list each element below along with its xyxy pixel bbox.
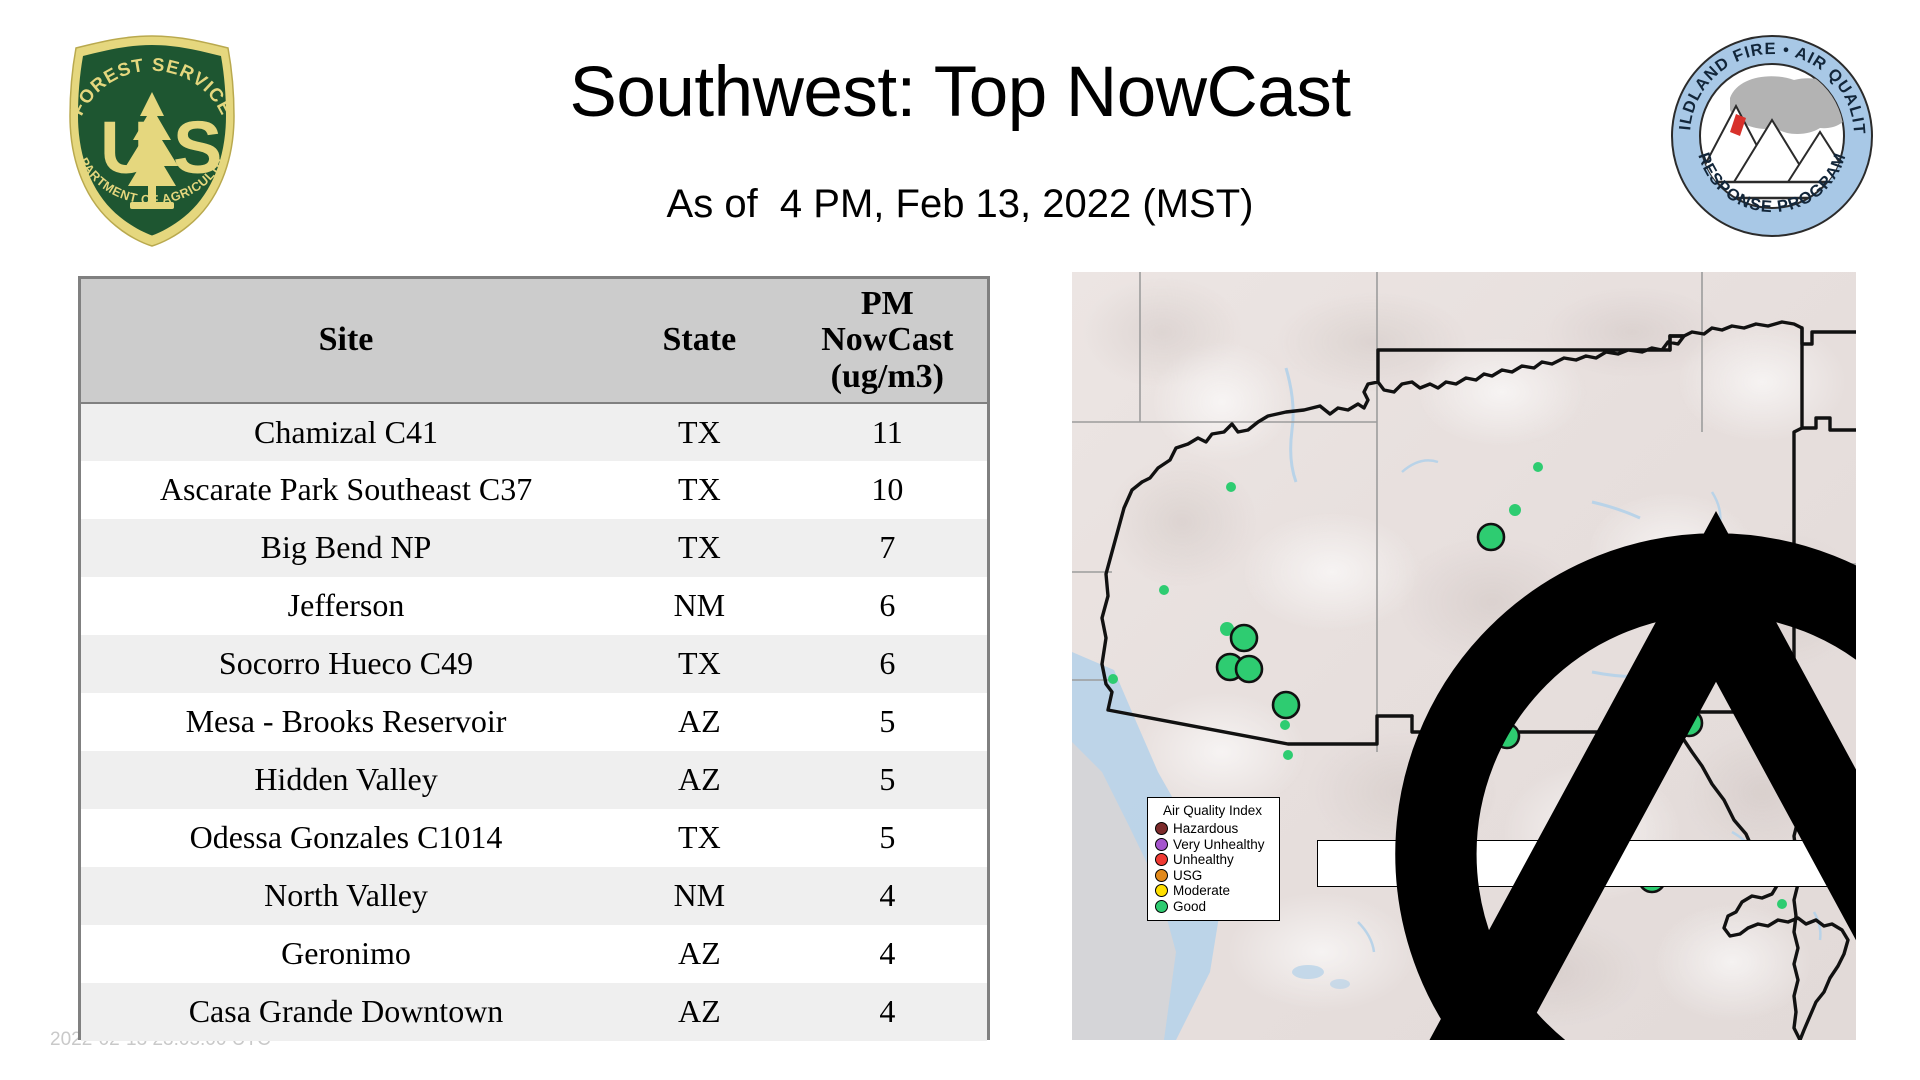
aqi-swatch-icon <box>1155 822 1168 835</box>
pm-nowcast-line-3: (ug/m3) <box>831 358 944 395</box>
table-row: Mesa - Brooks ReservoirAZ5 <box>81 693 987 751</box>
state-cell: TX <box>611 809 788 867</box>
table-body: Chamizal C41TX11Ascarate Park Southeast … <box>81 403 987 1041</box>
table-row: Ascarate Park Southeast C37TX10 <box>81 461 987 519</box>
monitor-type-legend: temporary permanent <box>1317 840 1856 887</box>
pm-nowcast-cell: 5 <box>788 693 987 751</box>
pm-nowcast-cell: 6 <box>788 635 987 693</box>
table-row: Socorro Hueco C49TX6 <box>81 635 987 693</box>
wildland-fire-air-quality-logo: WILDLAND FIRE • AIR QUALITY RESPONSE PRO… <box>1668 32 1876 240</box>
site-cell: Mesa - Brooks Reservoir <box>81 693 611 751</box>
site-cell: Jefferson <box>81 577 611 635</box>
pm-nowcast-cell: 6 <box>788 577 987 635</box>
site-cell: Casa Grande Downtown <box>81 983 611 1041</box>
table-row: Hidden ValleyAZ5 <box>81 751 987 809</box>
site-cell: Chamizal C41 <box>81 403 611 461</box>
table-header-row: Site State PM NowCast (ug/m3) <box>81 279 987 403</box>
site-cell: Hidden Valley <box>81 751 611 809</box>
aqi-legend-row: Unhealthy <box>1155 852 1270 868</box>
aqi-legend-label: Very Unhealthy <box>1173 838 1265 852</box>
monitor-marker[interactable] <box>1231 625 1257 651</box>
usfs-letter-s: S <box>173 106 222 189</box>
state-cell: AZ <box>611 751 788 809</box>
page-title: Southwest: Top NowCast <box>300 56 1620 131</box>
aqi-swatch-icon <box>1155 900 1168 913</box>
legend-row-permanent: permanent <box>1324 863 1856 881</box>
table-row: Big Bend NPTX7 <box>81 519 987 577</box>
aqi-legend-row: USG <box>1155 868 1270 884</box>
state-cell: TX <box>611 403 788 461</box>
air-quality-map[interactable]: Air Quality Index HazardousVery Unhealth… <box>1072 272 1856 1040</box>
column-header-pm-nowcast: PM NowCast (ug/m3) <box>788 279 987 403</box>
monitor-marker[interactable] <box>1226 482 1236 492</box>
pm-nowcast-cell: 5 <box>788 751 987 809</box>
aqi-legend-label: Hazardous <box>1173 822 1238 836</box>
state-cell: NM <box>611 867 788 925</box>
us-forest-service-logo: FOREST SERVICE DEPARTMENT OF AGRICULTURE… <box>52 30 252 250</box>
aqi-legend-row: Hazardous <box>1155 821 1270 837</box>
aqi-legend: Air Quality Index HazardousVery Unhealth… <box>1147 797 1280 921</box>
table-row: GeronimoAZ4 <box>81 925 987 983</box>
monitor-marker[interactable] <box>1108 674 1118 684</box>
table-row: North ValleyNM4 <box>81 867 987 925</box>
aqi-legend-label: USG <box>1173 869 1202 883</box>
pm-nowcast-line-2: NowCast <box>821 321 953 358</box>
aqi-legend-label: Moderate <box>1173 884 1230 898</box>
pm-nowcast-cell: 4 <box>788 925 987 983</box>
aqi-legend-title: Air Quality Index <box>1155 803 1270 818</box>
aqi-swatch-icon <box>1155 838 1168 851</box>
column-header-state: State <box>611 279 788 403</box>
monitor-marker[interactable] <box>1280 720 1290 730</box>
aqi-swatch-icon <box>1155 884 1168 897</box>
pm-nowcast-cell: 4 <box>788 867 987 925</box>
aqi-legend-label: Unhealthy <box>1173 853 1234 867</box>
top-nowcast-table: Site State PM NowCast (ug/m3) Chamizal C… <box>78 276 990 1040</box>
aqi-swatch-icon <box>1155 869 1168 882</box>
table-row: Casa Grande DowntownAZ4 <box>81 983 987 1041</box>
aqi-legend-entries: HazardousVery UnhealthyUnhealthyUSGModer… <box>1155 821 1270 914</box>
aqi-legend-row: Moderate <box>1155 883 1270 899</box>
pm-nowcast-cell: 11 <box>788 403 987 461</box>
pm-nowcast-cell: 4 <box>788 983 987 1041</box>
state-cell: TX <box>611 519 788 577</box>
monitor-marker[interactable] <box>1273 692 1299 718</box>
table-row: Chamizal C41TX11 <box>81 403 987 461</box>
site-cell: Big Bend NP <box>81 519 611 577</box>
table-row: JeffersonNM6 <box>81 577 987 635</box>
state-cell: AZ <box>611 693 788 751</box>
slide-root: 2022-02-13 23:05:00 UTC FOREST SERVICE D… <box>0 0 1920 1080</box>
pm-nowcast-cell: 7 <box>788 519 987 577</box>
state-cell: AZ <box>611 983 788 1041</box>
monitor-marker[interactable] <box>1283 750 1293 760</box>
site-cell: Socorro Hueco C49 <box>81 635 611 693</box>
page-subtitle: As of 4 PM, Feb 13, 2022 (MST) <box>300 182 1620 226</box>
state-cell: TX <box>611 635 788 693</box>
pm-nowcast-cell: 5 <box>788 809 987 867</box>
site-cell: Odessa Gonzales C1014 <box>81 809 611 867</box>
site-cell: North Valley <box>81 867 611 925</box>
site-cell: Ascarate Park Southeast C37 <box>81 461 611 519</box>
pm-nowcast-cell: 10 <box>788 461 987 519</box>
permanent-triangle-icon <box>1324 488 1856 1040</box>
aqi-swatch-icon <box>1155 853 1168 866</box>
column-header-site: Site <box>81 279 611 403</box>
state-cell: AZ <box>611 925 788 983</box>
state-cell: NM <box>611 577 788 635</box>
aqi-legend-row: Very Unhealthy <box>1155 837 1270 853</box>
table-row: Odessa Gonzales C1014TX5 <box>81 809 987 867</box>
aqi-legend-label: Good <box>1173 900 1206 914</box>
pm-nowcast-line-1: PM <box>861 285 914 322</box>
aqi-legend-row: Good <box>1155 899 1270 915</box>
monitor-marker[interactable] <box>1159 585 1169 595</box>
state-cell: TX <box>611 461 788 519</box>
site-cell: Geronimo <box>81 925 611 983</box>
monitor-marker[interactable] <box>1236 656 1262 682</box>
